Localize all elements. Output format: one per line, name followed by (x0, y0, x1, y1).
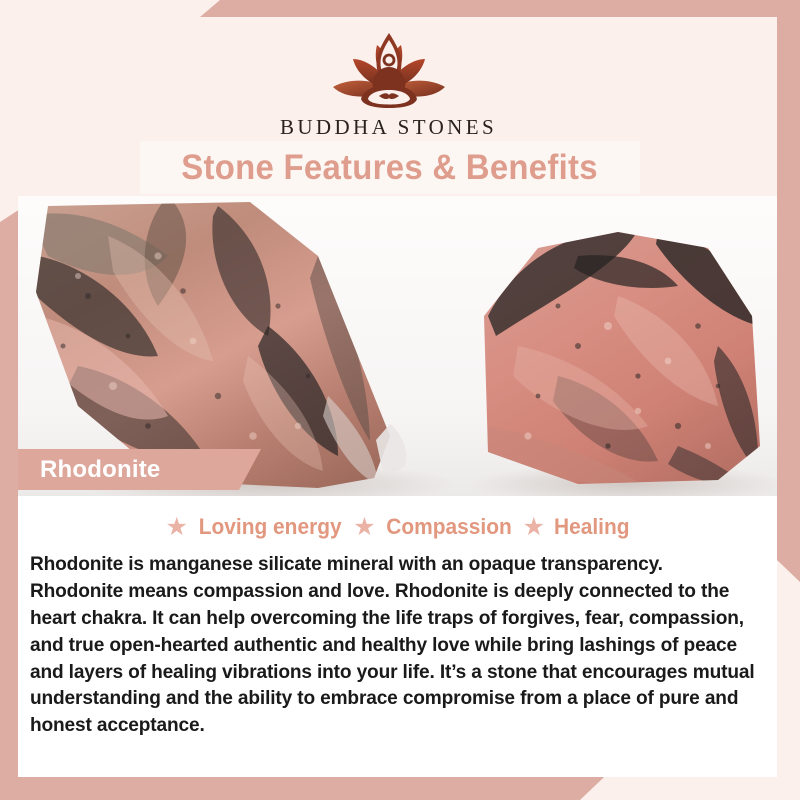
brand-name: BUDDHA STONES (280, 115, 497, 140)
keyword-label: Loving energy (199, 514, 342, 540)
list-item: ★ Loving energy (165, 514, 345, 540)
stone-name-label: Rhodonite (40, 456, 160, 484)
star-icon: ★ (523, 515, 545, 540)
keyword-list: ★ Loving energy ★ Compassion ★ Healing (30, 510, 767, 544)
keyword-label: Compassion (386, 514, 511, 540)
stone-name-tag: Rhodonite (18, 449, 261, 490)
stone-description: Rhodonite is manganese silicate mineral … (30, 551, 756, 739)
content-card: ★ Loving energy ★ Compassion ★ Healing R… (18, 496, 777, 777)
star-icon: ★ (353, 515, 375, 540)
brand-header: BUDDHA STONES (0, 17, 777, 150)
star-icon: ★ (165, 515, 187, 540)
title-banner: Stone Features & Benefits (140, 141, 640, 194)
list-item: ★ Healing (523, 514, 632, 540)
decor-right-bar (777, 0, 800, 582)
lotus-meditation-logo-icon (323, 29, 455, 111)
page-title: Stone Features & Benefits (182, 148, 599, 188)
keyword-label: Healing (554, 514, 629, 540)
decor-top-bar (200, 0, 800, 17)
list-item: ★ Compassion (353, 514, 514, 540)
poster-root: BUDDHA STONES Stone Features & Benefits (0, 0, 800, 800)
